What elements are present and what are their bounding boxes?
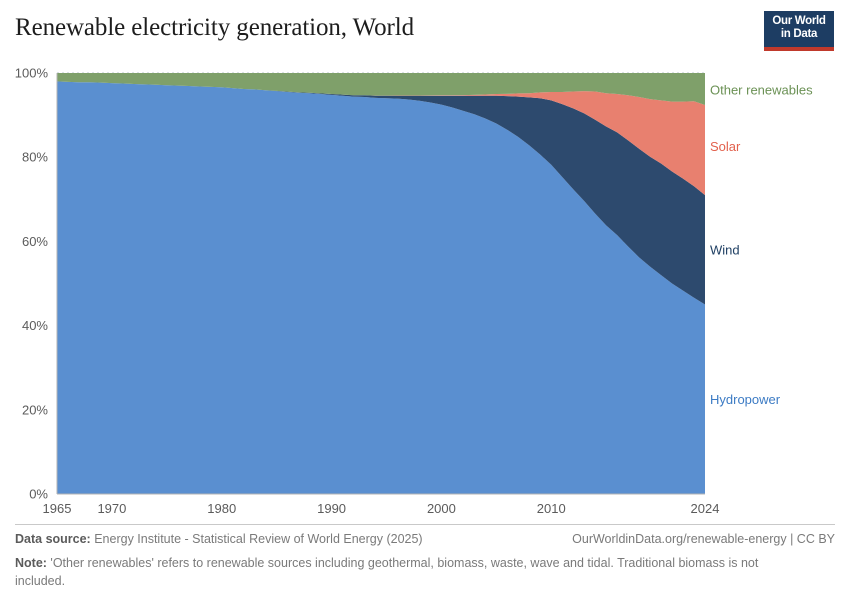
data-source-label: Data source: [15, 532, 91, 546]
y-tick-20%: 20% [22, 402, 48, 417]
x-tick-2000: 2000 [427, 501, 456, 516]
y-tick-40%: 40% [22, 318, 48, 333]
x-tick-1990: 1990 [317, 501, 346, 516]
series-label-hydropower[interactable]: Hydropower [710, 392, 781, 407]
chart-area: 0%20%40%60%80%100% 196519701980199020002… [0, 62, 850, 524]
y-tick-100%: 100% [15, 66, 49, 81]
series-label-solar[interactable]: Solar [710, 139, 741, 154]
stacked-area-chart[interactable]: 0%20%40%60%80%100% 196519701980199020002… [0, 62, 850, 524]
note-text: 'Other renewables' refers to renewable s… [15, 556, 758, 588]
chart-footer: Data source: Energy Institute - Statisti… [0, 524, 850, 600]
our-world-in-data-logo[interactable]: Our World in Data [764, 11, 834, 51]
y-axis-tick-labels: 0%20%40%60%80%100% [15, 66, 49, 502]
x-axis-tick-labels: 1965197019801990200020102024 [43, 501, 720, 516]
area-series-group[interactable] [57, 73, 705, 494]
note-label: Note: [15, 556, 47, 570]
page-title: Renewable electricity generation, World [15, 14, 414, 42]
x-tick-2010: 2010 [537, 501, 566, 516]
series-labels-group[interactable]: HydropowerWindSolarOther renewables [710, 82, 813, 406]
note-row: Note: 'Other renewables' refers to renew… [15, 554, 805, 590]
series-label-wind[interactable]: Wind [710, 242, 740, 257]
y-tick-60%: 60% [22, 234, 48, 249]
y-tick-0%: 0% [29, 487, 48, 502]
logo-line-2: in Data [764, 28, 834, 41]
owid-chart-page: Renewable electricity generation, World … [0, 0, 850, 600]
series-label-other-renewables[interactable]: Other renewables [710, 82, 813, 97]
x-tick-2024: 2024 [691, 501, 720, 516]
data-source-value: Energy Institute - Statistical Review of… [91, 532, 423, 546]
x-tick-1980: 1980 [207, 501, 236, 516]
logo-line-1: Our World [764, 15, 834, 28]
footer-divider [15, 524, 835, 525]
x-tick-1970: 1970 [97, 501, 126, 516]
data-source-text: Data source: Energy Institute - Statisti… [15, 532, 423, 546]
source-row: Data source: Energy Institute - Statisti… [15, 532, 835, 546]
chart-header: Renewable electricity generation, World … [0, 0, 850, 62]
x-tick-1965: 1965 [43, 501, 72, 516]
y-tick-80%: 80% [22, 150, 48, 165]
attribution-link[interactable]: OurWorldinData.org/renewable-energy | CC… [572, 532, 835, 546]
